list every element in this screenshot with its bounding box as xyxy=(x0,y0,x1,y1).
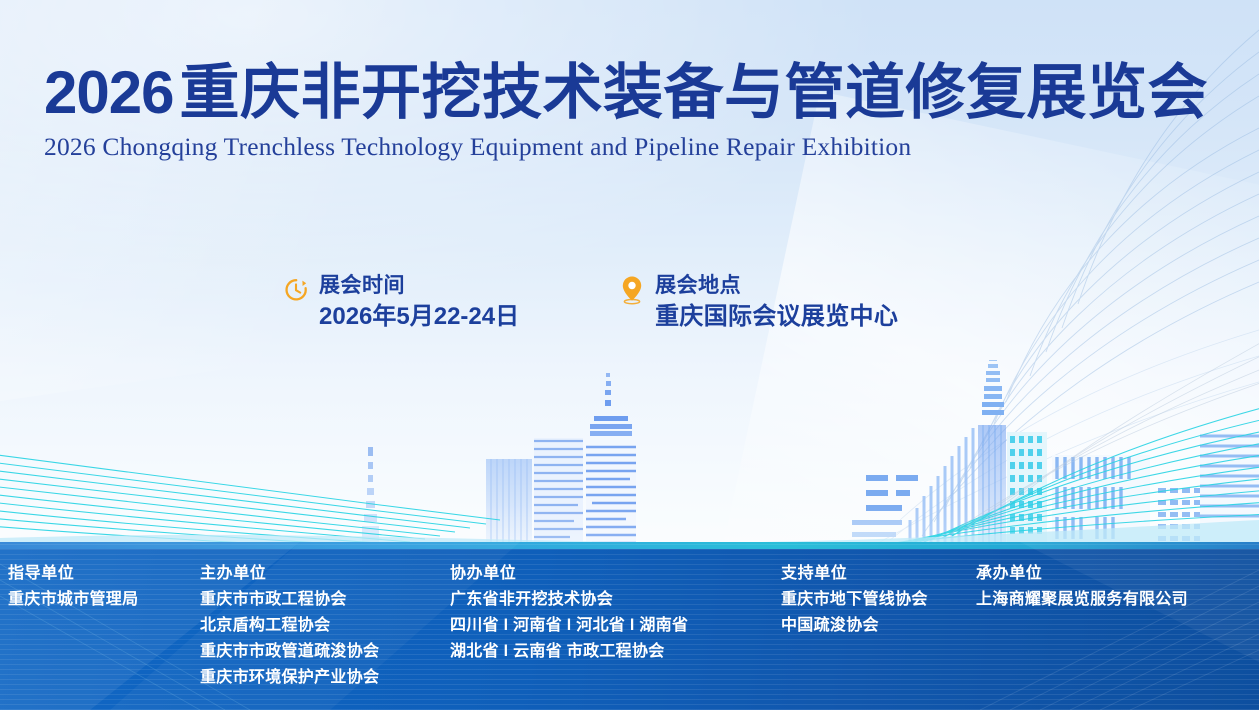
organizer-name: 北京盾构工程协会 xyxy=(200,613,379,639)
organizer-name: 四川省 l 河南省 l 河北省 l 湖南省 xyxy=(450,613,688,639)
event-date-value: 2026年5月22-24日 xyxy=(319,301,519,333)
arc-pattern-midright xyxy=(880,330,1259,542)
exhibition-banner: 2026重庆非开挖技术装备与管道修复展览会 2026 Chongqing Tre… xyxy=(0,0,1259,710)
event-date-text: 展会时间 2026年5月22-24日 xyxy=(319,272,519,333)
title-chinese: 2026重庆非开挖技术装备与管道修复展览会 xyxy=(44,62,1224,123)
event-date-label: 展会时间 xyxy=(319,272,519,300)
clock-icon xyxy=(283,275,309,305)
organizer-name: 重庆市市政工程协会 xyxy=(200,587,379,613)
organizer-role: 指导单位 xyxy=(8,561,138,587)
page-title: 2026重庆非开挖技术装备与管道修复展览会 2026 Chongqing Tre… xyxy=(44,62,1224,162)
event-venue-label: 展会地点 xyxy=(655,272,898,300)
event-info-row: 展会时间 2026年5月22-24日 展会地点 重庆国际会议展览中心 xyxy=(283,272,898,333)
cyan-line-fan-right xyxy=(832,406,1259,551)
organizer-column-guidance: 指导单位 重庆市城市管理局 xyxy=(8,561,138,613)
organizer-name: 广东省非开挖技术协会 xyxy=(450,587,688,613)
building-fin-fan xyxy=(910,428,973,546)
building-right-striped xyxy=(1200,433,1259,546)
building-slab-fins xyxy=(1052,455,1150,546)
organizer-columns: 指导单位 重庆市城市管理局 主办单位 重庆市市政工程协会 北京盾构工程协会 重庆… xyxy=(0,542,1259,710)
organizer-column-coorganizer: 协办单位 广东省非开挖技术协会 四川省 l 河南省 l 河北省 l 湖南省 湖北… xyxy=(450,561,688,665)
grey-line-fan-right xyxy=(950,338,1259,534)
title-english: 2026 Chongqing Trenchless Technology Equ… xyxy=(44,132,1224,162)
building-dotgrid-right xyxy=(1158,488,1238,541)
building-left-hatch xyxy=(486,459,532,546)
event-venue-value: 重庆国际会议展览中心 xyxy=(655,301,898,333)
organizer-name: 重庆市环境保护产业协会 xyxy=(200,665,379,691)
title-year: 2026 xyxy=(44,59,173,126)
organizer-role: 承办单位 xyxy=(976,561,1188,587)
event-venue-block: 展会地点 重庆国际会议展览中心 xyxy=(619,272,898,333)
organizer-role: 支持单位 xyxy=(781,561,928,587)
city-skyline xyxy=(0,350,1259,546)
organizer-column-host: 主办单位 重庆市市政工程协会 北京盾构工程协会 重庆市市政管道疏浚协会 重庆市环… xyxy=(200,561,379,691)
building-central-tower xyxy=(978,350,1006,546)
organizer-column-undertaker: 承办单位 上海商耀聚展览服务有限公司 xyxy=(976,561,1188,613)
building-left-spire-tower xyxy=(586,373,636,546)
organizer-name: 重庆市城市管理局 xyxy=(8,587,138,613)
organizer-column-support: 支持单位 重庆市地下管线协会 中国疏浚协会 xyxy=(781,561,928,639)
title-chinese-main: 重庆非开挖技术装备与管道修复展览会 xyxy=(179,59,1208,126)
organizer-name: 重庆市市政管道疏浚协会 xyxy=(200,639,379,665)
organizer-role: 协办单位 xyxy=(450,561,688,587)
cyan-line-fan-left xyxy=(0,454,500,548)
map-pin-icon xyxy=(619,275,645,305)
event-venue-text: 展会地点 重庆国际会议展览中心 xyxy=(655,272,898,333)
building-cyan-tower xyxy=(1007,432,1047,546)
organizer-name: 湖北省 l 云南省 市政工程协会 xyxy=(450,639,688,665)
organizer-name: 上海商耀聚展览服务有限公司 xyxy=(976,587,1188,613)
organizer-bar: 指导单位 重庆市城市管理局 主办单位 重庆市市政工程协会 北京盾构工程协会 重庆… xyxy=(0,542,1259,710)
building-left-striped xyxy=(534,438,583,546)
building-mast-left xyxy=(362,447,379,542)
event-date-block: 展会时间 2026年5月22-24日 xyxy=(283,272,519,333)
organizer-role: 主办单位 xyxy=(200,561,379,587)
organizer-name: 重庆市地下管线协会 xyxy=(781,587,928,613)
building-dash-cluster-a xyxy=(852,475,918,537)
organizer-name: 中国疏浚协会 xyxy=(781,613,928,639)
